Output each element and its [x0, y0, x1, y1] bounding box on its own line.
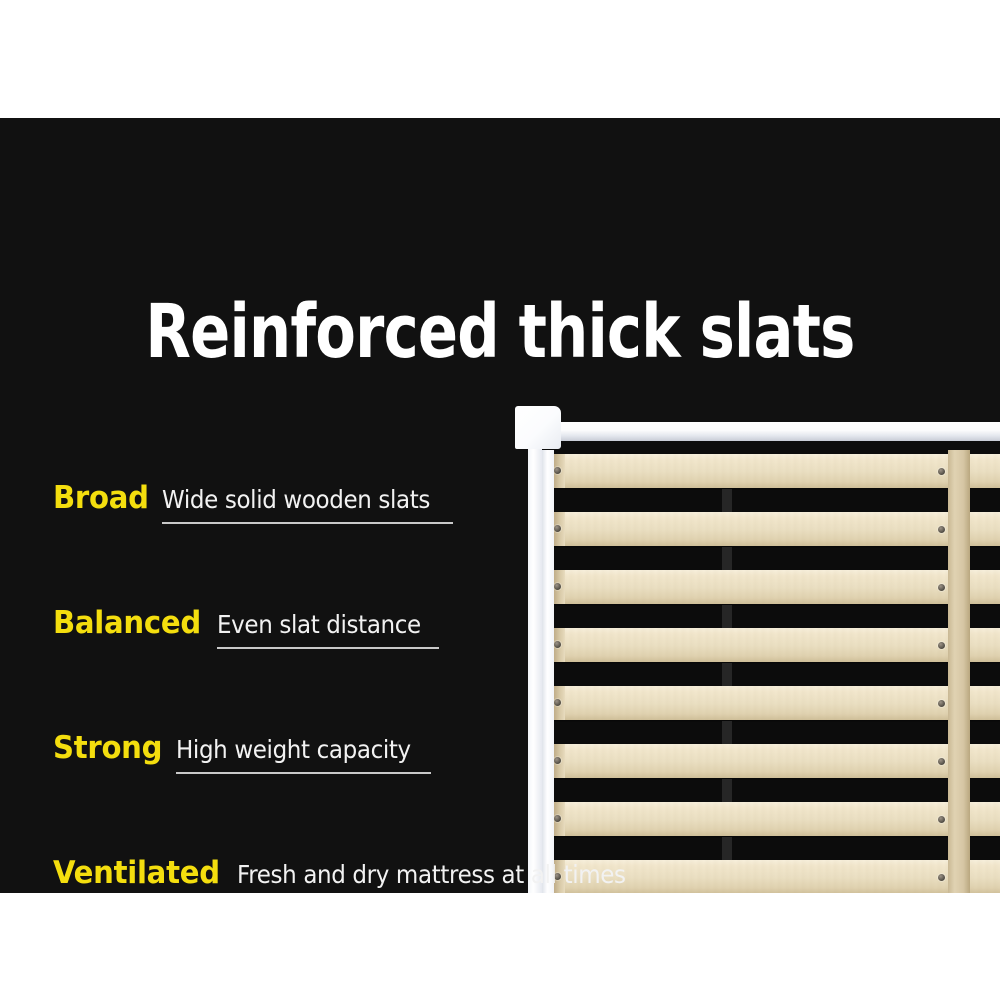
under-frame-shadow — [722, 489, 732, 513]
feature-row: StrongHigh weight capacity — [53, 730, 573, 855]
slat-screw — [554, 467, 561, 474]
feature-description: High weight capacity — [176, 735, 411, 765]
slat-screw — [938, 526, 945, 533]
wooden-slat — [552, 512, 1000, 546]
black-content-panel: Reinforced thick slats BroadWide solid w… — [0, 118, 1000, 893]
under-frame-shadow — [722, 663, 732, 687]
feature-list: BroadWide solid wooden slatsBalancedEven… — [53, 480, 573, 893]
center-support-beam — [948, 450, 970, 893]
wooden-slat — [552, 744, 1000, 778]
feature-description: Even slat distance — [217, 610, 421, 640]
feature-description: Wide solid wooden slats — [162, 485, 430, 515]
wooden-slat — [552, 686, 1000, 720]
slat-screw — [938, 642, 945, 649]
slat-field — [552, 450, 1000, 893]
wooden-slat — [552, 628, 1000, 662]
slat-screw — [938, 758, 945, 765]
slat-screw — [938, 700, 945, 707]
slat-screw — [938, 816, 945, 823]
under-frame-shadow — [722, 721, 732, 745]
wooden-slat — [552, 802, 1000, 836]
feature-label-ventilated: Ventilated — [53, 855, 220, 891]
feature-row: VentilatedFresh and dry mattress at all … — [53, 855, 573, 893]
corner-post-cap — [515, 406, 561, 449]
feature-row: BalancedEven slat distance — [53, 605, 573, 730]
bed-slats-photo — [508, 403, 1000, 893]
head-rail-shadow — [518, 441, 1000, 450]
feature-description-underline: Even slat distance — [217, 610, 439, 649]
bed-head-rail — [518, 422, 1000, 441]
under-frame-shadow — [722, 779, 732, 803]
feature-label-broad: Broad — [53, 480, 149, 516]
wooden-slat — [552, 570, 1000, 604]
feature-row: BroadWide solid wooden slats — [53, 480, 573, 605]
feature-label-balanced: Balanced — [53, 605, 201, 641]
slat-screw — [938, 874, 945, 881]
feature-label-strong: Strong — [53, 730, 162, 766]
feature-description-underline: Fresh and dry mattress at all times — [237, 860, 659, 893]
page-title: Reinforced thick slats — [100, 290, 900, 374]
slat-screw — [938, 584, 945, 591]
wooden-slat — [552, 454, 1000, 488]
feature-description-underline: Wide solid wooden slats — [162, 485, 453, 524]
slat-screw — [938, 468, 945, 475]
under-frame-shadow — [722, 837, 732, 861]
marketing-banner: Reinforced thick slats BroadWide solid w… — [0, 0, 1000, 1000]
under-frame-shadow — [722, 547, 732, 571]
under-frame-shadow — [722, 605, 732, 629]
feature-description-underline: High weight capacity — [176, 735, 431, 774]
feature-description: Fresh and dry mattress at all times — [237, 860, 626, 890]
